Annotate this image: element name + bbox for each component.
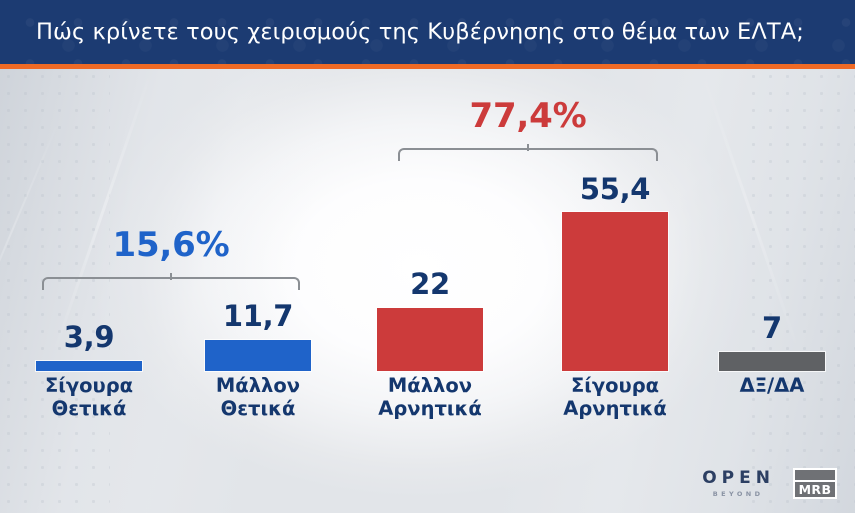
bar-sigoura-arnitika[interactable]: [562, 212, 668, 371]
bar-group-sigoura-thetika: 3,9 Σίγουρα Θετικά: [36, 68, 142, 371]
logo-strip: OPEN BEYOND MRB: [697, 468, 837, 499]
bar-value-dx-da: 7: [719, 311, 825, 345]
bar-value-sigoura-thetika: 3,9: [36, 320, 142, 354]
page-title: Πώς κρίνετε τους χειρισμούς της Κυβέρνησ…: [36, 19, 804, 45]
bar-group-dx-da: 7 ΔΞ/ΔΑ: [719, 68, 825, 371]
bar-label-dx-da: ΔΞ/ΔΑ: [697, 375, 847, 398]
bar-dx-da[interactable]: [719, 352, 825, 371]
bar-sigoura-thetika[interactable]: [36, 361, 142, 371]
bar-group-sigoura-arnitika: 55,4 Σίγουρα Αρνητικά: [562, 68, 668, 371]
chart-plot-area: 15,6% 77,4% 3,9 Σίγουρα Θετικά 11,7 Μάλλ…: [0, 68, 855, 513]
bar-label-sigoura-thetika: Σίγουρα Θετικά: [14, 375, 164, 420]
mrb-logo-word: MRB: [795, 482, 835, 497]
bar-mallon-arnitika[interactable]: [377, 308, 483, 371]
bar-group-mallon-arnitika: 22 Μάλλον Αρνητικά: [377, 68, 483, 371]
bar-label-sigoura-arnitika: Σίγουρα Αρνητικά: [540, 375, 690, 420]
poll-chart-slide: Πώς κρίνετε τους χειρισμούς της Κυβέρνησ…: [0, 0, 855, 513]
bar-value-mallon-arnitika: 22: [377, 267, 483, 301]
open-beyond-logo: OPEN BEYOND: [697, 470, 775, 498]
open-logo-tagline: BEYOND: [697, 491, 775, 498]
bar-label-mallon-thetika: Μάλλον Θετικά: [183, 375, 333, 420]
mrb-logo-bar: [795, 470, 835, 480]
bar-value-mallon-thetika: 11,7: [205, 299, 311, 333]
bar-mallon-thetika[interactable]: [205, 340, 311, 371]
mrb-logo: MRB: [793, 468, 837, 499]
open-logo-word: OPEN: [697, 470, 775, 487]
title-bar: Πώς κρίνετε τους χειρισμούς της Κυβέρνησ…: [0, 0, 855, 64]
bar-group-mallon-thetika: 11,7 Μάλλον Θετικά: [205, 68, 311, 371]
bar-label-mallon-arnitika: Μάλλον Αρνητικά: [355, 375, 505, 420]
bar-value-sigoura-arnitika: 55,4: [562, 172, 668, 206]
